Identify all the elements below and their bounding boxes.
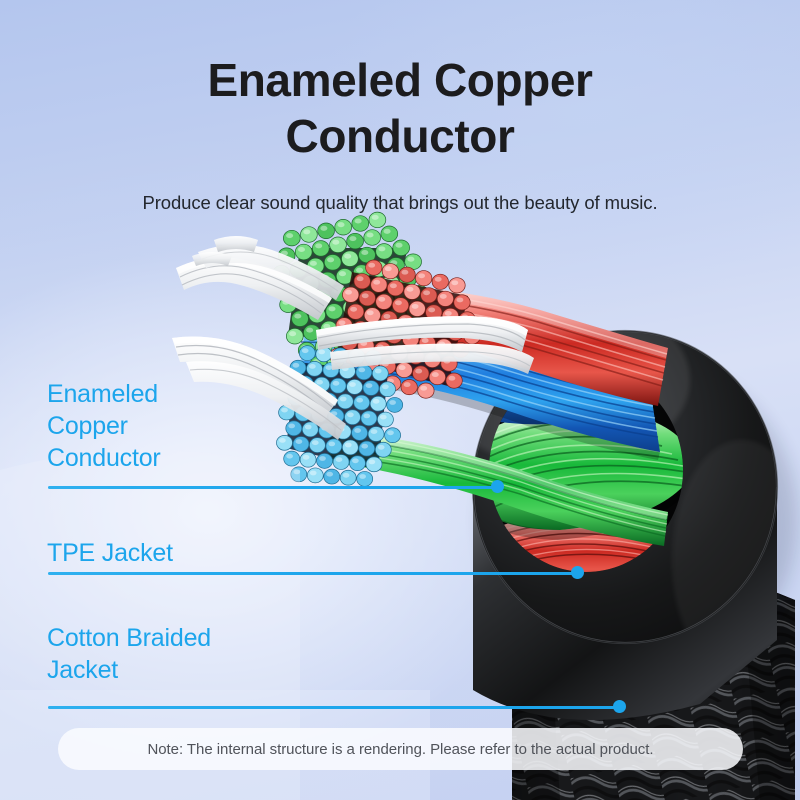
disclaimer-note: Note: The internal structure is a render… xyxy=(58,728,743,770)
callout-label-cotton-braided-jacket: Cotton Braided Jacket xyxy=(47,622,211,686)
disclaimer-note-text: Note: The internal structure is a render… xyxy=(147,741,653,758)
page-title: Enameled Copper Conductor xyxy=(0,52,800,164)
leader-dot xyxy=(613,700,626,713)
leader-bar xyxy=(48,572,577,575)
leader-line-enameled-copper-conductor xyxy=(48,480,503,494)
leader-bar xyxy=(48,486,497,489)
leader-dot xyxy=(491,480,504,493)
callout-label-enameled-copper-conductor: Enameled Copper Conductor xyxy=(47,378,161,474)
product-infographic: Enameled Copper Conductor Produce clear … xyxy=(0,0,800,800)
leader-line-tpe-jacket xyxy=(48,566,583,580)
leader-dot xyxy=(571,566,584,579)
leader-line-cotton-braided-jacket xyxy=(48,700,625,714)
leader-bar xyxy=(48,706,619,709)
callout-label-tpe-jacket: TPE Jacket xyxy=(47,537,173,569)
page-subtitle: Produce clear sound quality that brings … xyxy=(0,192,800,214)
